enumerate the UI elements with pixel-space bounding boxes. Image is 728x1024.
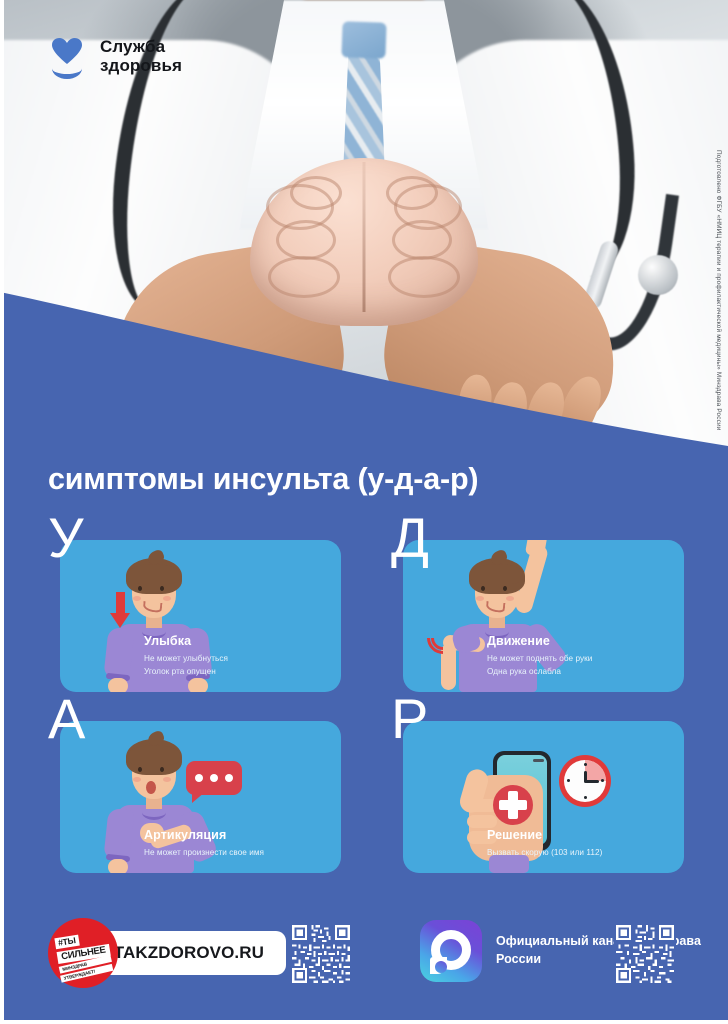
- website-pill[interactable]: TAKZDOROVO.RU: [92, 931, 286, 975]
- clock-tick: [567, 779, 570, 782]
- figure-cheek: [476, 596, 484, 601]
- qr-code-max-channel[interactable]: [614, 923, 676, 985]
- figure-fringe: [128, 564, 180, 584]
- bottom-white-edge: [0, 1020, 728, 1024]
- card-line-1: Не может поднять обе руки: [487, 653, 673, 665]
- channel-label: Официальный канал Минздрава России: [496, 933, 728, 969]
- stethoscope-chestpiece: [638, 255, 678, 295]
- bubble-dot: [195, 774, 203, 782]
- card-line-2: Одна рука ослабла: [487, 666, 673, 678]
- hand-finger: [467, 815, 497, 828]
- symptom-card-smile: У: [46, 540, 341, 692]
- card-body: Движение Не может поднять обе руки Одна …: [403, 540, 684, 692]
- card-body: Улыбка Не может улыбнуться Уголок рта оп…: [60, 540, 341, 692]
- card-letter-d: Д: [391, 510, 429, 566]
- card-letter-u: У: [48, 510, 84, 566]
- figure-eye: [160, 767, 164, 772]
- symptom-card-movement: Д: [389, 540, 684, 692]
- bubble-dot: [210, 774, 218, 782]
- card-heading: Артикуляция: [144, 828, 330, 842]
- figure-eye: [481, 586, 485, 591]
- card-line-1: Вызвать скорую (103 или 112): [487, 847, 673, 859]
- figure-open-mouth: [146, 781, 156, 794]
- clock-tick: [584, 763, 587, 766]
- brand-logo-line2: здоровья: [100, 56, 182, 75]
- brand-logo: Служба здоровья: [48, 36, 182, 76]
- card-body: Решение Вызвать скорую (103 или 112): [403, 721, 684, 873]
- card-text: Артикуляция Не может произнести свое имя: [144, 828, 330, 859]
- figure-eye: [138, 586, 142, 591]
- finger: [487, 379, 531, 440]
- clock-tick: [601, 779, 604, 782]
- card-letter-a: А: [48, 691, 85, 747]
- figure-cheek: [133, 596, 141, 601]
- footer-right-group: Официальный канал Минздрава России: [420, 920, 728, 982]
- footer: #ТЫ СИЛЬНЕЕ МИНЗДРАВ УТВЕРЖДАЕТ! TAKZDOR…: [0, 918, 728, 990]
- figure-eye: [160, 586, 164, 591]
- figure-hand: [108, 859, 128, 873]
- figure-cheek: [506, 596, 514, 601]
- brain-gyrus: [386, 176, 438, 210]
- left-white-edge: [0, 0, 4, 1024]
- figure-cheek: [133, 777, 141, 782]
- figure-fringe: [128, 745, 180, 765]
- brand-logo-line1: Служба: [100, 37, 182, 56]
- smile-arc: [52, 58, 82, 79]
- card-body: Артикуляция Не может произнести свое имя: [60, 721, 341, 873]
- page-title: симптомы инсульта (у-д-а-р): [48, 462, 478, 497]
- speech-bubble: [186, 761, 242, 795]
- smartphone-speaker: [533, 759, 544, 762]
- symptom-card-decision: Р: [389, 721, 684, 873]
- max-messenger-icon[interactable]: [420, 920, 482, 982]
- card-line-2: Уголок рта опущен: [144, 666, 330, 678]
- medical-cross-horizontal: [499, 800, 527, 810]
- finger: [457, 373, 494, 428]
- card-text: Решение Вызвать скорую (103 или 112): [487, 828, 673, 859]
- preparer-credit: Подготовлено ФГБУ «НМИЦ терапии и профил…: [712, 150, 724, 430]
- figure-hand: [108, 678, 128, 692]
- bubble-dot: [225, 774, 233, 782]
- qr-code-takzdorovo[interactable]: [290, 923, 352, 985]
- figure-eye: [138, 767, 142, 772]
- card-heading: Улыбка: [144, 634, 330, 648]
- brain-gyrus: [392, 220, 452, 260]
- badge-hash-word: #ТЫ: [54, 935, 79, 950]
- card-heading: Движение: [487, 634, 673, 648]
- clock-tick: [584, 796, 587, 799]
- symptom-card-articulation: А: [46, 721, 341, 873]
- hero-photo: Подготовлено ФГБУ «НМИЦ терапии и профил…: [0, 0, 728, 460]
- heart-smile-icon: [48, 36, 88, 76]
- card-line-1: Не может произнести свое имя: [144, 847, 330, 859]
- poster-root: Подготовлено ФГБУ «НМИЦ терапии и профил…: [0, 0, 728, 1024]
- necktie-knot: [341, 21, 386, 59]
- figure-eye: [503, 586, 507, 591]
- brand-logo-text: Служба здоровья: [100, 37, 182, 76]
- brain-gyrus: [276, 220, 336, 260]
- card-text: Улыбка Не может улыбнуться Уголок рта оп…: [144, 634, 330, 678]
- figure-cheek: [163, 777, 171, 782]
- app-icon-tail: [430, 957, 447, 974]
- figure-cheek: [163, 596, 171, 601]
- clock-minute-hand: [585, 780, 599, 783]
- figure-hand: [188, 678, 208, 692]
- brain-gyrus: [388, 256, 460, 298]
- figure-sleeve-left: [103, 808, 134, 860]
- card-text: Движение Не может поднять обе руки Одна …: [487, 634, 673, 678]
- brain-gyrus: [290, 176, 342, 210]
- symptom-card-grid: У: [46, 540, 684, 873]
- website-url: TAKZDOROVO.RU: [114, 943, 264, 963]
- finger: [234, 373, 271, 428]
- figure-sleeve-left: [103, 627, 134, 679]
- brain-gyrus: [268, 256, 340, 298]
- card-line-1: Не может улыбнуться: [144, 653, 330, 665]
- figure-fringe: [471, 564, 523, 584]
- badge-content: #ТЫ СИЛЬНЕЕ МИНЗДРАВ УТВЕРЖДАЕТ!: [53, 925, 112, 980]
- ty-silnee-badge: #ТЫ СИЛЬНЕЕ МИНЗДРАВ УТВЕРЖДАЕТ!: [48, 918, 118, 988]
- card-letter-r: Р: [391, 691, 428, 747]
- footer-left-group: #ТЫ СИЛЬНЕЕ МИНЗДРАВ УТВЕРЖДАЕТ! TAKZDOR…: [48, 918, 286, 988]
- finger: [197, 379, 241, 440]
- card-heading: Решение: [487, 828, 673, 842]
